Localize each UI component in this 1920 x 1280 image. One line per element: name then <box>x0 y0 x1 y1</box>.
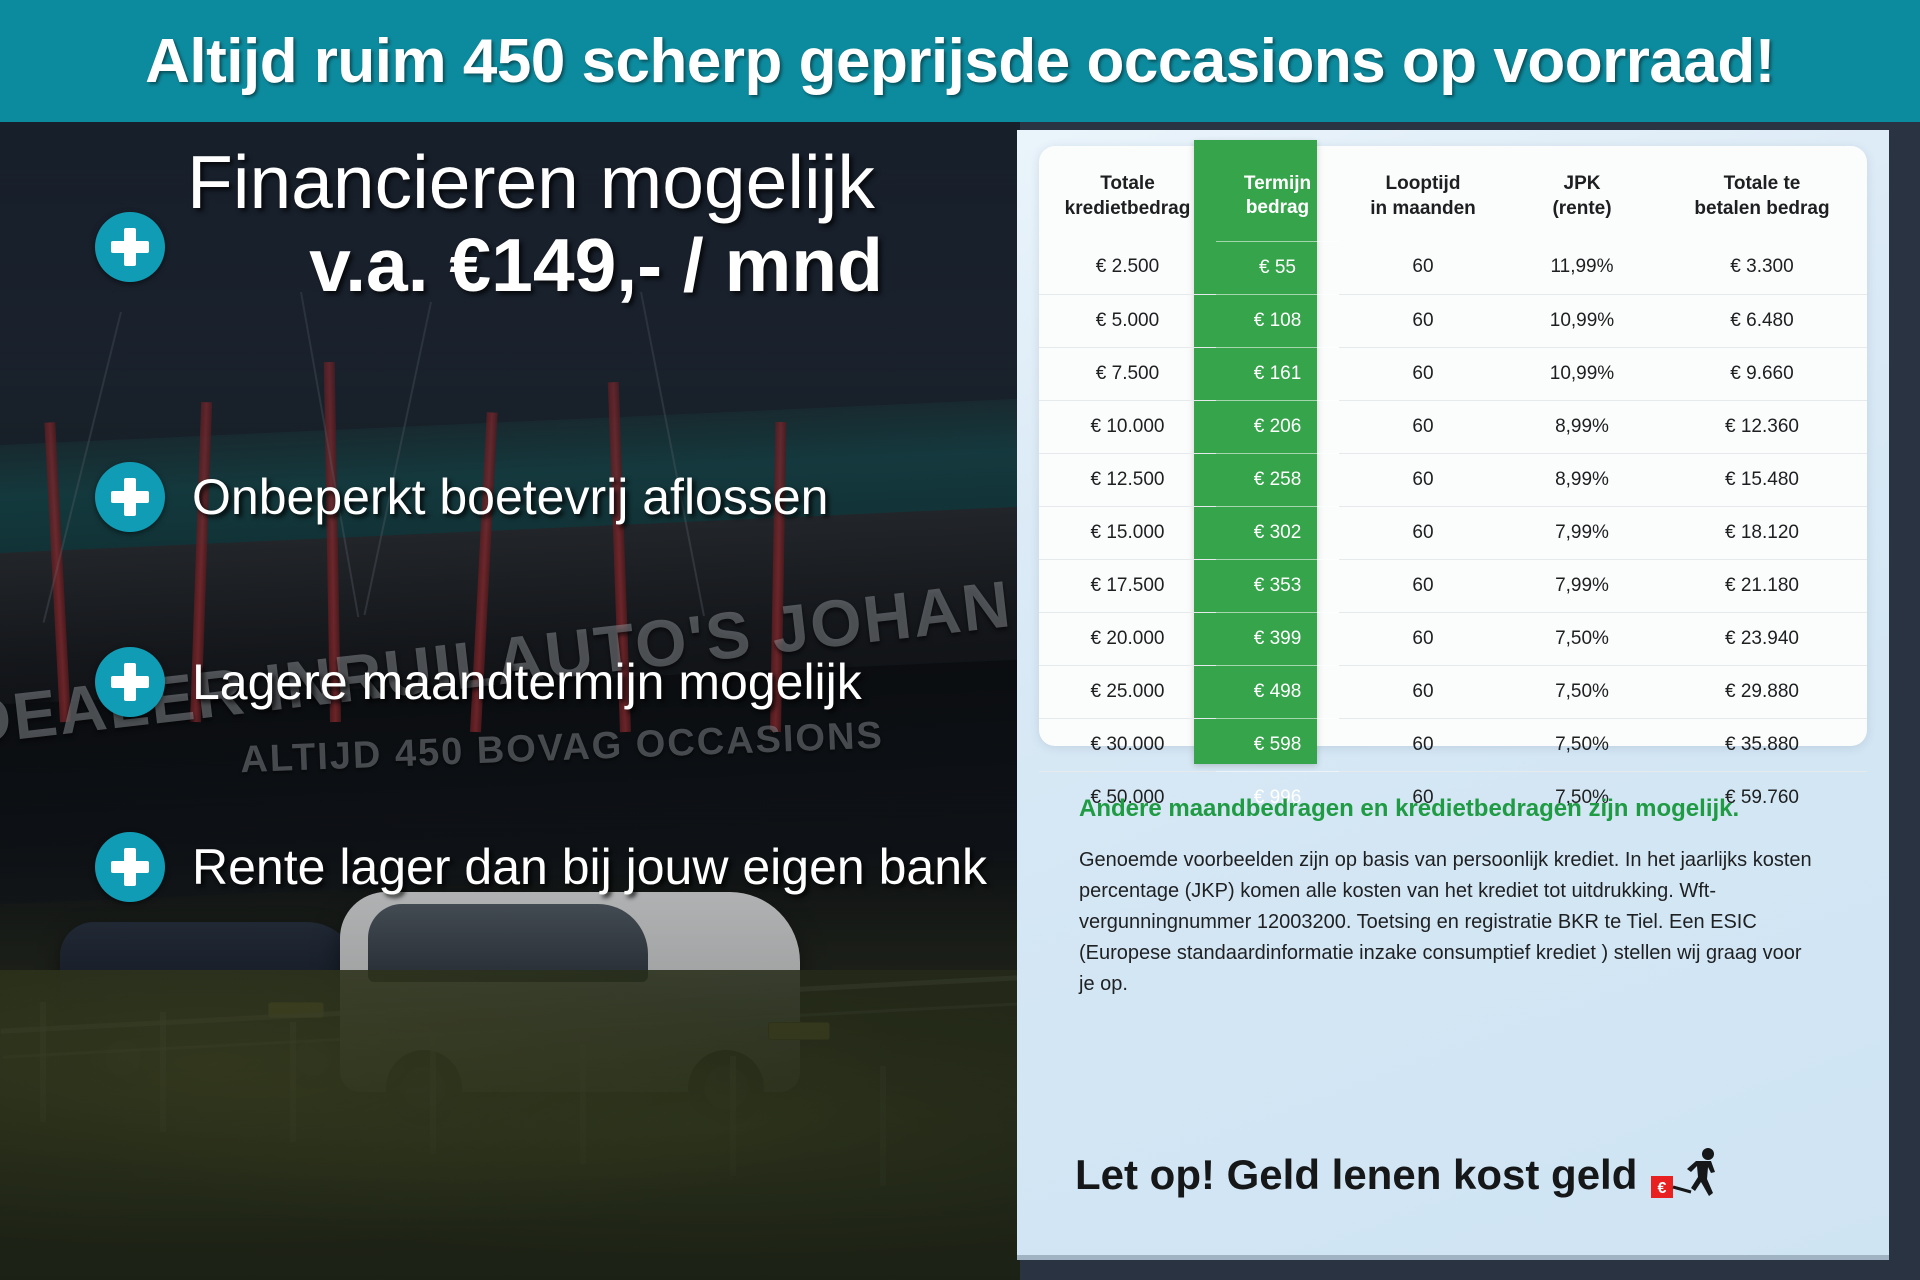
warning-bar: Let op! Geld lenen kost geld € <box>1075 1146 1865 1204</box>
plus-icon <box>95 462 165 532</box>
panel-bottom-divider <box>1017 1255 1889 1260</box>
feature-label: Lagere maandtermijn mogelijk <box>192 653 862 711</box>
table-row: € 15.000 € 302 60 7,99% € 18.120 <box>1039 506 1867 559</box>
column-header-termijn: Termijn bedrag <box>1216 146 1339 241</box>
cell-jpk: 7,99% <box>1507 506 1657 559</box>
cell-krediet: € 12.500 <box>1039 453 1216 506</box>
cell-termijn: € 353 <box>1216 559 1339 612</box>
table-row: € 7.500 € 161 60 10,99% € 9.660 <box>1039 347 1867 400</box>
header-line-1: Looptijd <box>1386 173 1461 194</box>
cell-jpk: 7,99% <box>1507 559 1657 612</box>
top-banner: Altijd ruim 450 scherp geprijsde occasio… <box>0 0 1920 122</box>
column-header-jpk: JPK (rente) <box>1507 146 1657 241</box>
table-row: € 30.000 € 598 60 7,50% € 35.880 <box>1039 718 1867 771</box>
cell-krediet: € 15.000 <box>1039 506 1216 559</box>
rate-table-body: € 2.500 € 55 60 11,99% € 3.300 € 5.000 €… <box>1039 241 1867 824</box>
warning-text: Let op! Geld lenen kost geld <box>1075 1151 1637 1199</box>
header-line-2: kredietbedrag <box>1065 198 1191 219</box>
cell-krediet: € 10.000 <box>1039 400 1216 453</box>
person-dragging-money-block-icon: € <box>1651 1146 1725 1204</box>
cell-termijn: € 399 <box>1216 612 1339 665</box>
header-line-1: Totale <box>1100 173 1155 194</box>
disclaimer-block: Andere maandbedragen en kredietbedragen … <box>1079 795 1819 1000</box>
cell-totaal: € 18.120 <box>1657 506 1867 559</box>
column-header-looptijd: Looptijd in maanden <box>1339 146 1507 241</box>
cell-krediet: € 5.000 <box>1039 294 1216 347</box>
cell-jpk: 7,50% <box>1507 665 1657 718</box>
cell-krediet: € 2.500 <box>1039 241 1216 294</box>
plus-icon <box>95 647 165 717</box>
cell-jpk: 10,99% <box>1507 347 1657 400</box>
table-row: € 17.500 € 353 60 7,99% € 21.180 <box>1039 559 1867 612</box>
cell-termijn: € 108 <box>1216 294 1339 347</box>
cell-totaal: € 3.300 <box>1657 241 1867 294</box>
column-header-totaal: Totale te betalen bedrag <box>1657 146 1867 241</box>
cell-totaal: € 6.480 <box>1657 294 1867 347</box>
cell-looptijd: 60 <box>1339 241 1507 294</box>
cell-krediet: € 17.500 <box>1039 559 1216 612</box>
table-row: € 5.000 € 108 60 10,99% € 6.480 <box>1039 294 1867 347</box>
finance-info-panel: Totale kredietbedrag Termijn bedrag Loop… <box>1017 130 1889 1260</box>
header-line-2: in maanden <box>1370 198 1476 219</box>
cell-jpk: 7,50% <box>1507 718 1657 771</box>
cell-totaal: € 9.660 <box>1657 347 1867 400</box>
table-row: € 12.500 € 258 60 8,99% € 15.480 <box>1039 453 1867 506</box>
cell-termijn: € 206 <box>1216 400 1339 453</box>
headline-lines: Financieren mogelijk v.a. €149,- / mnd <box>187 144 1005 309</box>
header-line-2: betalen bedrag <box>1694 198 1829 219</box>
headline-line-2: v.a. €149,- / mnd <box>187 221 1005 310</box>
cell-totaal: € 29.880 <box>1657 665 1867 718</box>
plus-icon <box>95 832 165 902</box>
cell-jpk: 10,99% <box>1507 294 1657 347</box>
headline-line-1: Financieren mogelijk <box>187 144 1005 221</box>
feature-item-2: Lagere maandtermijn mogelijk <box>95 647 862 717</box>
cell-termijn: € 161 <box>1216 347 1339 400</box>
table-row: € 10.000 € 206 60 8,99% € 12.360 <box>1039 400 1867 453</box>
cell-termijn: € 302 <box>1216 506 1339 559</box>
left-content: Financieren mogelijk v.a. €149,- / mnd O… <box>0 122 1020 1280</box>
promo-banner-page: Altijd ruim 450 scherp geprijsde occasio… <box>0 0 1920 1280</box>
cell-krediet: € 20.000 <box>1039 612 1216 665</box>
svg-text:€: € <box>1658 1180 1667 1197</box>
cell-totaal: € 35.880 <box>1657 718 1867 771</box>
table-row: € 25.000 € 498 60 7,50% € 29.880 <box>1039 665 1867 718</box>
table-row: € 20.000 € 399 60 7,50% € 23.940 <box>1039 612 1867 665</box>
cell-termijn: € 598 <box>1216 718 1339 771</box>
feature-item-3: Rente lager dan bij jouw eigen bank <box>95 832 987 902</box>
cell-looptijd: 60 <box>1339 400 1507 453</box>
cell-looptijd: 60 <box>1339 347 1507 400</box>
table-row: € 2.500 € 55 60 11,99% € 3.300 <box>1039 241 1867 294</box>
cell-looptijd: 60 <box>1339 612 1507 665</box>
cell-totaal: € 15.480 <box>1657 453 1867 506</box>
rate-table: Totale kredietbedrag Termijn bedrag Loop… <box>1039 146 1867 824</box>
feature-item-1: Onbeperkt boetevrij aflossen <box>95 462 828 532</box>
column-header-krediet: Totale kredietbedrag <box>1039 146 1216 241</box>
cell-looptijd: 60 <box>1339 506 1507 559</box>
feature-label: Onbeperkt boetevrij aflossen <box>192 468 828 526</box>
header-line-1: Termijn <box>1244 173 1311 194</box>
cell-totaal: € 21.180 <box>1657 559 1867 612</box>
cell-looptijd: 60 <box>1339 718 1507 771</box>
cell-looptijd: 60 <box>1339 665 1507 718</box>
header-line-1: Totale te <box>1724 173 1801 194</box>
banner-headline: Altijd ruim 450 scherp geprijsde occasio… <box>145 26 1775 97</box>
cell-krediet: € 30.000 <box>1039 718 1216 771</box>
cell-termijn: € 258 <box>1216 453 1339 506</box>
cell-looptijd: 60 <box>1339 453 1507 506</box>
cell-looptijd: 60 <box>1339 294 1507 347</box>
header-line-2: bedrag <box>1246 197 1309 218</box>
cell-jpk: 8,99% <box>1507 453 1657 506</box>
headline-block: Financieren mogelijk v.a. €149,- / mnd <box>95 144 1005 309</box>
plus-icon <box>95 212 165 282</box>
cell-termijn: € 498 <box>1216 665 1339 718</box>
header-line-2: (rente) <box>1552 198 1611 219</box>
cell-jpk: 7,50% <box>1507 612 1657 665</box>
cell-totaal: € 12.360 <box>1657 400 1867 453</box>
cell-jpk: 11,99% <box>1507 241 1657 294</box>
header-line-1: JPK <box>1564 173 1601 194</box>
disclaimer-body: Genoemde voorbeelden zijn op basis van p… <box>1079 845 1819 1000</box>
disclaimer-title: Andere maandbedragen en kredietbedragen … <box>1079 795 1819 823</box>
cell-totaal: € 23.940 <box>1657 612 1867 665</box>
cell-krediet: € 25.000 <box>1039 665 1216 718</box>
cell-krediet: € 7.500 <box>1039 347 1216 400</box>
cell-jpk: 8,99% <box>1507 400 1657 453</box>
table-header-row: Totale kredietbedrag Termijn bedrag Loop… <box>1039 146 1867 241</box>
feature-label: Rente lager dan bij jouw eigen bank <box>192 838 987 896</box>
cell-looptijd: 60 <box>1339 559 1507 612</box>
cell-termijn: € 55 <box>1216 241 1339 294</box>
